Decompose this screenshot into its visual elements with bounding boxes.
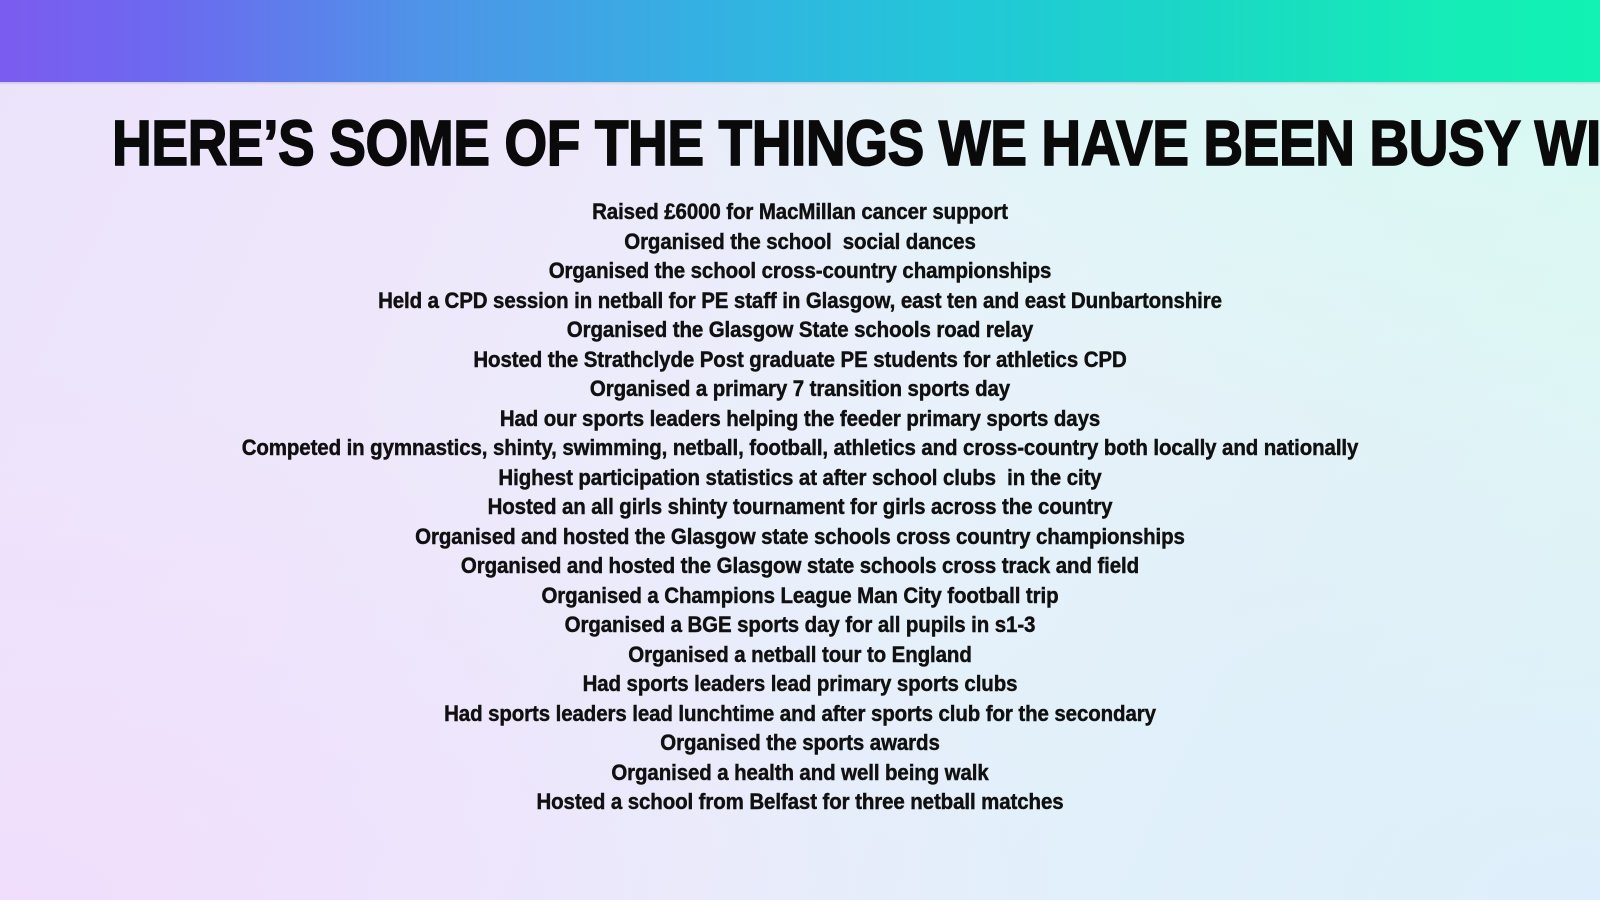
list-item: Hosted an all girls shinty tournament fo… [56, 492, 1544, 522]
page-title: HERE’S SOME OF THE THINGS WE HAVE BEEN B… [112, 109, 1488, 177]
list-item: Held a CPD session in netball for PE sta… [56, 286, 1544, 316]
list-item: Organised a BGE sports day for all pupil… [56, 610, 1544, 640]
slide-canvas: HERE’S SOME OF THE THINGS WE HAVE BEEN B… [0, 0, 1600, 900]
list-item: Competed in gymnastics, shinty, swimming… [56, 433, 1544, 463]
list-item: Organised and hosted the Glasgow state s… [56, 551, 1544, 581]
list-item: Organised a Champions League Man City fo… [56, 581, 1544, 611]
list-item: Organised and hosted the Glasgow state s… [56, 522, 1544, 552]
list-item: Had sports leaders lead primary sports c… [56, 669, 1544, 699]
list-item: Organised a netball tour to England [56, 640, 1544, 670]
top-bar-shadow [0, 82, 1600, 85]
list-item: Hosted the Strathclyde Post graduate PE … [56, 345, 1544, 375]
list-item: Highest participation statistics at afte… [56, 463, 1544, 493]
list-item: Organised a health and well being walk [56, 758, 1544, 788]
achievements-list: Raised £6000 for MacMillan cancer suppor… [0, 197, 1600, 817]
list-item: Organised the school cross-country champ… [56, 256, 1544, 286]
list-item: Had sports leaders lead lunchtime and af… [56, 699, 1544, 729]
top-gradient-bar [0, 0, 1600, 82]
list-item: Hosted a school from Belfast for three n… [56, 787, 1544, 817]
list-item: Organised the sports awards [56, 728, 1544, 758]
list-item: Raised £6000 for MacMillan cancer suppor… [56, 197, 1544, 227]
list-item: Organised the Glasgow State schools road… [56, 315, 1544, 345]
list-item: Had our sports leaders helping the feede… [56, 404, 1544, 434]
list-item: Organised a primary 7 transition sports … [56, 374, 1544, 404]
list-item: Organised the school social dances [56, 227, 1544, 257]
